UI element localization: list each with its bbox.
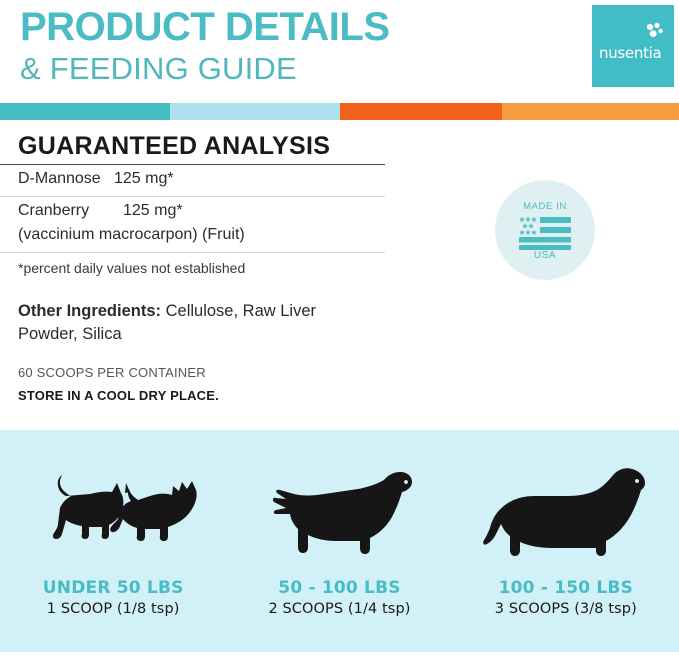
daily-value-footnote: *percent daily values not established	[18, 260, 245, 276]
guaranteed-analysis-heading: GUARANTEED ANALYSIS	[18, 132, 330, 161]
scoops-per-container: 60 SCOOPS PER CONTAINER	[18, 365, 206, 380]
page-header: PRODUCT DETAILS & FEEDING GUIDE nusentia	[0, 0, 679, 103]
analysis-row-amount: 125 mg*	[123, 202, 183, 220]
made-in-usa-top-text: MADE IN	[495, 201, 595, 212]
title-block: PRODUCT DETAILS & FEEDING GUIDE	[20, 4, 390, 88]
page-title: PRODUCT DETAILS	[20, 4, 390, 50]
feeding-column-large: 100 - 150 LBS 3 SCOOPS (3/8 tsp)	[453, 578, 679, 617]
other-ingredients: Other Ingredients: Cellulose, Raw Liver …	[18, 300, 363, 346]
other-ingredients-label: Other Ingredients:	[18, 302, 161, 320]
feeding-dose-label: 1 SCOOP (1/8 tsp)	[0, 601, 226, 617]
stripe-segment-light-orange	[502, 103, 679, 120]
storage-instruction: STORE IN A COOL DRY PLACE.	[18, 388, 219, 403]
feeding-weight-label: 50 - 100 LBS	[226, 578, 452, 598]
stripe-segment-orange-red	[340, 103, 503, 120]
feeding-dose-label: 3 SCOOPS (3/8 tsp)	[453, 601, 679, 617]
stripe-segment-light-blue	[170, 103, 340, 120]
analysis-row-amount: 125 mg*	[114, 170, 174, 188]
made-in-usa-badge: MADE IN	[495, 180, 595, 280]
animal-icon-cell-medium	[226, 430, 452, 575]
brand-logo-text: nusentia	[599, 44, 661, 62]
feeding-weight-label: 100 - 150 LBS	[453, 578, 679, 598]
analysis-rule-middle	[0, 196, 385, 197]
feeding-column-small: UNDER 50 LBS 1 SCOOP (1/8 tsp)	[0, 578, 226, 617]
large-dog-icon	[483, 457, 648, 567]
analysis-rule-top	[0, 164, 385, 165]
stripe-segment-teal	[0, 103, 170, 120]
made-in-usa-bottom-text: USA	[495, 250, 595, 261]
product-details-section: GUARANTEED ANALYSIS D-Mannose125 mg* Cra…	[0, 120, 679, 430]
feeding-labels-row: UNDER 50 LBS 1 SCOOP (1/8 tsp) 50 - 100 …	[0, 578, 679, 617]
analysis-row-cranberry: Cranberry125 mg*	[18, 202, 183, 220]
feeding-dose-label: 2 SCOOPS (1/4 tsp)	[226, 601, 452, 617]
feeding-column-medium: 50 - 100 LBS 2 SCOOPS (1/4 tsp)	[226, 578, 452, 617]
analysis-rule-bottom	[0, 252, 385, 253]
animal-icon-cell-small	[0, 430, 226, 575]
feeding-guide-panel: UNDER 50 LBS 1 SCOOP (1/8 tsp) 50 - 100 …	[0, 430, 679, 652]
analysis-row-name: D-Mannose	[18, 170, 114, 188]
animal-icon-cell-large	[453, 430, 679, 575]
analysis-row-name: Cranberry	[18, 202, 123, 220]
color-stripe-bar	[0, 103, 679, 120]
medium-dog-icon	[264, 462, 414, 567]
analysis-row-subline: (vaccinium macrocarpon) (Fruit)	[18, 226, 245, 244]
brand-logo: nusentia	[592, 5, 674, 87]
feeding-weight-label: UNDER 50 LBS	[0, 578, 226, 598]
bubbles-icon	[644, 22, 664, 45]
animal-icons-row	[0, 430, 679, 575]
analysis-row-d-mannose: D-Mannose125 mg*	[18, 170, 174, 188]
page-subtitle: & FEEDING GUIDE	[20, 50, 390, 88]
cat-and-small-dog-icon	[26, 470, 201, 567]
